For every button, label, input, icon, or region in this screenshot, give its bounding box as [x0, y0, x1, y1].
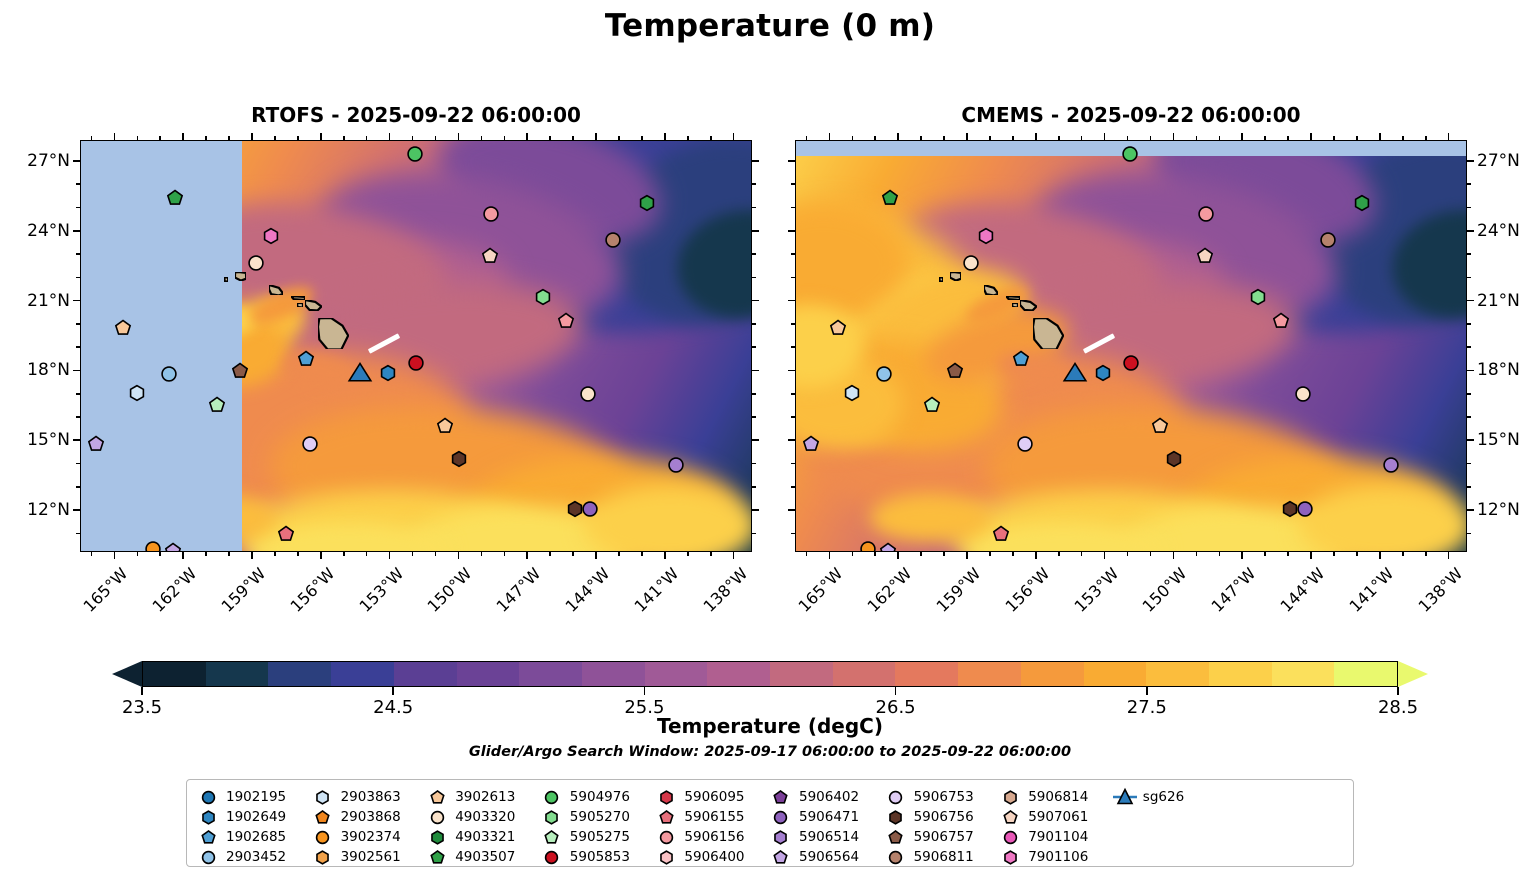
- float-marker[interactable]: [558, 313, 575, 330]
- y-tick: [73, 300, 80, 302]
- colorbar-band: [1146, 662, 1209, 686]
- y-tick: [788, 439, 795, 441]
- colorbar-band: [331, 662, 394, 686]
- x-tick: [1104, 552, 1106, 559]
- float-marker[interactable]: [298, 351, 315, 368]
- colorbar-tick: [1397, 687, 1399, 695]
- legend-item[interactable]: 7901104: [999, 827, 1114, 847]
- colorbar-band: [707, 662, 770, 686]
- y-tick-minor-right: [752, 346, 756, 348]
- legend-item[interactable]: 1902685: [197, 827, 312, 847]
- x-tick-minor-top: [366, 136, 368, 140]
- legend-item[interactable]: 1902649: [197, 807, 312, 827]
- colorbar-under-arrow: [112, 661, 142, 687]
- y-tick-right: [1467, 300, 1474, 302]
- x-tick-minor: [1196, 552, 1198, 556]
- x-tick-minor-top: [205, 136, 207, 140]
- colorbar-bands: [142, 661, 1398, 687]
- colorbar-title: Temperature (degC): [0, 714, 1540, 738]
- x-tick-minor: [618, 552, 620, 556]
- x-tick-minor: [572, 552, 574, 556]
- legend-marker-icon: [999, 810, 1021, 825]
- x-tick-minor: [91, 552, 93, 556]
- float-marker[interactable]: [1064, 364, 1087, 387]
- x-tick-minor: [1425, 552, 1427, 556]
- x-tick-minor-top: [641, 136, 643, 140]
- x-tick-minor-top: [228, 136, 230, 140]
- legend-marker-icon: [426, 830, 448, 845]
- legend-item[interactable]: 5906471: [770, 807, 885, 827]
- x-tick-minor: [920, 552, 922, 556]
- legend-marker-icon: [655, 850, 677, 865]
- colorbar-tick: [895, 687, 897, 695]
- colorbar-band: [143, 662, 206, 686]
- legend-item[interactable]: 5906811: [885, 847, 1000, 867]
- legend-item[interactable]: 5905275: [541, 827, 656, 847]
- x-tick-minor: [710, 552, 712, 556]
- float-marker[interactable]: [876, 366, 893, 383]
- x-tick-minor: [435, 552, 437, 556]
- legend-item-label: sg626: [1143, 789, 1184, 805]
- colorbar-band: [1209, 662, 1272, 686]
- legend-item[interactable]: 5906095: [655, 787, 770, 807]
- x-tick-minor-top: [412, 136, 414, 140]
- legend-item[interactable]: 7901106: [999, 847, 1114, 867]
- x-tick-minor: [366, 552, 368, 556]
- search-window-caption: Glider/Argo Search Window: 2025-09-17 06…: [0, 744, 1540, 760]
- y-tick-minor: [791, 486, 795, 488]
- y-tick-minor: [76, 323, 80, 325]
- legend-item-label: 4903321: [455, 829, 515, 845]
- x-tick-top: [1379, 133, 1381, 140]
- x-tick: [1241, 552, 1243, 559]
- x-tick: [966, 552, 968, 559]
- x-tick-minor: [943, 552, 945, 556]
- legend-item[interactable]: 5906400: [655, 847, 770, 867]
- legend-marker-icon: [885, 830, 907, 845]
- legend-item-label: 5906156: [684, 829, 744, 845]
- x-tick-minor-top: [274, 136, 276, 140]
- legend-item[interactable]: 5906757: [885, 827, 1000, 847]
- float-markers-cmems: [796, 141, 1466, 551]
- float-marker[interactable]: [129, 385, 146, 402]
- legend-item-label: 5905270: [570, 809, 630, 825]
- legend-item[interactable]: 5906156: [655, 827, 770, 847]
- float-marker[interactable]: [407, 146, 424, 163]
- float-marker[interactable]: [451, 451, 468, 468]
- legend-item-label: 2903452: [226, 849, 286, 865]
- x-tick-minor-top: [1012, 136, 1014, 140]
- y-tick-minor: [76, 253, 80, 255]
- x-tick-top: [389, 133, 391, 140]
- float-marker[interactable]: [145, 541, 162, 553]
- legend-item-label: 5906514: [799, 829, 859, 845]
- float-marker[interactable]: [882, 190, 899, 207]
- x-tick-top: [1173, 133, 1175, 140]
- y-tick: [788, 370, 795, 372]
- y-tick: [788, 300, 795, 302]
- float-marker[interactable]: [582, 501, 599, 518]
- legend-marker-icon: [197, 830, 219, 845]
- legend-item[interactable]: 5906756: [885, 807, 1000, 827]
- legend-marker-icon: [655, 810, 677, 825]
- x-tick: [1310, 552, 1312, 559]
- legend-item[interactable]: 4903321: [426, 827, 541, 847]
- legend-marker-icon: [770, 850, 792, 865]
- float-markers-rtofs: [81, 141, 751, 551]
- float-marker[interactable]: [380, 365, 397, 382]
- legend-item[interactable]: 3902613: [426, 787, 541, 807]
- legend-item-label: 1902195: [226, 789, 286, 805]
- colorbar[interactable]: 23.524.525.526.527.528.5: [112, 661, 1428, 687]
- x-tick: [458, 552, 460, 559]
- x-tick-top: [1448, 133, 1450, 140]
- y-tick: [788, 230, 795, 232]
- legend-item[interactable]: 5904976: [541, 787, 656, 807]
- float-marker[interactable]: [1250, 289, 1267, 306]
- x-tick: [251, 552, 253, 559]
- x-tick-minor-top: [1058, 136, 1060, 140]
- float-marker[interactable]: [278, 526, 295, 543]
- legend-item-label: 1902649: [226, 809, 286, 825]
- colorbar-band: [833, 662, 896, 686]
- y-tick-minor-right: [1467, 346, 1471, 348]
- x-tick-minor: [205, 552, 207, 556]
- legend-marker-icon: [426, 790, 448, 805]
- legend-item-label: 4903320: [455, 809, 515, 825]
- legend-item-label: 1902685: [226, 829, 286, 845]
- legend-item[interactable]: 4903507: [426, 847, 541, 867]
- panel-title-rtofs: RTOFS - 2025-09-22 06:00:00: [80, 103, 752, 127]
- y-tick-minor-right: [1467, 486, 1471, 488]
- y-tick-minor-right: [752, 416, 756, 418]
- legend-item[interactable]: 5907061: [999, 807, 1114, 827]
- x-tick: [897, 552, 899, 559]
- legend-item[interactable]: 5905853: [541, 847, 656, 867]
- panel-title-cmems: CMEMS - 2025-09-22 06:00:00: [795, 103, 1467, 127]
- float-marker[interactable]: [88, 436, 105, 453]
- y-tick-label-right: 15°N: [1477, 430, 1540, 450]
- float-marker[interactable]: [844, 385, 861, 402]
- x-tick-minor: [1150, 552, 1152, 556]
- float-marker[interactable]: [924, 397, 941, 414]
- float-marker[interactable]: [1166, 451, 1183, 468]
- float-marker[interactable]: [1122, 146, 1139, 163]
- x-tick-top: [733, 133, 735, 140]
- legend-item-label: 5906471: [799, 809, 859, 825]
- x-tick-top: [897, 133, 899, 140]
- float-marker[interactable]: [1297, 501, 1314, 518]
- legend-item[interactable]: 5906514: [770, 827, 885, 847]
- y-tick-minor: [76, 393, 80, 395]
- legend-marker-icon: [197, 810, 219, 825]
- float-marker[interactable]: [1095, 365, 1112, 382]
- float-marker[interactable]: [483, 206, 500, 223]
- legend-item[interactable]: sg626: [1114, 787, 1229, 807]
- float-marker[interactable]: [978, 228, 995, 245]
- x-tick: [829, 552, 831, 559]
- y-tick-right: [1467, 230, 1474, 232]
- legend-item-label: 5904976: [570, 789, 630, 805]
- y-tick-minor: [791, 277, 795, 279]
- x-tick-minor-top: [137, 136, 139, 140]
- float-marker[interactable]: [482, 248, 499, 265]
- legend-item-label: 5906811: [914, 849, 974, 865]
- float-marker[interactable]: [580, 386, 597, 403]
- float-marker[interactable]: [1383, 457, 1400, 474]
- legend-marker-icon: [541, 830, 563, 845]
- x-tick-minor-top: [343, 136, 345, 140]
- y-tick-minor-right: [752, 207, 756, 209]
- x-tick-minor-top: [1219, 136, 1221, 140]
- y-tick: [788, 160, 795, 162]
- y-tick: [73, 509, 80, 511]
- float-marker[interactable]: [668, 457, 685, 474]
- x-tick-minor-top: [1127, 136, 1129, 140]
- x-tick-minor: [852, 552, 854, 556]
- y-tick-minor-right: [1467, 416, 1471, 418]
- y-tick-minor-right: [1467, 463, 1471, 465]
- legend-marker-icon: [312, 830, 334, 845]
- x-tick-minor-top: [874, 136, 876, 140]
- legend-marker-icon: [426, 810, 448, 825]
- float-marker[interactable]: [1354, 195, 1371, 212]
- y-tick-right: [752, 509, 759, 511]
- x-tick-minor: [806, 552, 808, 556]
- x-tick-top: [182, 133, 184, 140]
- legend-marker-icon: [541, 850, 563, 865]
- float-marker[interactable]: [161, 366, 178, 383]
- x-tick-top: [320, 133, 322, 140]
- colorbar-tick: [644, 687, 646, 695]
- float-marker[interactable]: [1273, 313, 1290, 330]
- y-tick: [788, 509, 795, 511]
- y-tick-minor: [791, 463, 795, 465]
- x-tick-minor-top: [687, 136, 689, 140]
- glider-track: [368, 333, 400, 353]
- colorbar-band: [1084, 662, 1147, 686]
- x-tick-minor: [274, 552, 276, 556]
- legend-item-label: 2903863: [341, 789, 401, 805]
- colorbar-band: [457, 662, 520, 686]
- x-tick-minor: [1402, 552, 1404, 556]
- legend-marker-icon: [312, 790, 334, 805]
- float-marker[interactable]: [1152, 418, 1169, 435]
- y-tick-minor: [791, 183, 795, 185]
- y-tick-label-right: 27°N: [1477, 151, 1540, 171]
- legend-marker-icon: [885, 790, 907, 805]
- colorbar-band: [394, 662, 457, 686]
- legend-marker-icon: [541, 790, 563, 805]
- y-tick-minor: [791, 533, 795, 535]
- x-tick-minor-top: [504, 136, 506, 140]
- legend-item-label: 5906756: [914, 809, 974, 825]
- x-tick-minor-top: [572, 136, 574, 140]
- x-tick: [1173, 552, 1175, 559]
- x-tick-minor: [989, 552, 991, 556]
- colorbar-band: [582, 662, 645, 686]
- legend-marker-icon: [885, 850, 907, 865]
- x-tick-minor: [874, 552, 876, 556]
- legend-item-label: 5906402: [799, 789, 859, 805]
- legend-item-label: 5906400: [684, 849, 744, 865]
- legend-item[interactable]: 3902561: [312, 847, 427, 867]
- legend-item-label: 5906155: [684, 809, 744, 825]
- y-tick-minor-right: [752, 323, 756, 325]
- y-tick-label-right: 24°N: [1477, 221, 1540, 241]
- float-marker[interactable]: [880, 543, 897, 553]
- x-tick-minor-top: [920, 136, 922, 140]
- y-tick-minor: [791, 253, 795, 255]
- colorbar-tick: [392, 687, 394, 695]
- x-tick-top: [1241, 133, 1243, 140]
- float-marker[interactable]: [947, 363, 964, 380]
- y-tick-right: [1467, 509, 1474, 511]
- float-marker[interactable]: [860, 541, 877, 553]
- legend-item[interactable]: 2903863: [312, 787, 427, 807]
- y-tick-right: [752, 439, 759, 441]
- colorbar-band: [645, 662, 708, 686]
- y-tick-right: [752, 300, 759, 302]
- y-tick: [73, 439, 80, 441]
- legend-item-label: 3902613: [455, 789, 515, 805]
- legend-item-label: 5906814: [1028, 789, 1088, 805]
- legend-item-label: 5906753: [914, 789, 974, 805]
- x-tick-minor-top: [1150, 136, 1152, 140]
- legend-item[interactable]: 5906814: [999, 787, 1114, 807]
- y-tick-label-right: 21°N: [1477, 291, 1540, 311]
- float-marker[interactable]: [1320, 232, 1337, 249]
- legend-marker-icon: [655, 790, 677, 805]
- legend[interactable]: 1902195 1902649 1902685: [186, 779, 1354, 867]
- x-tick-minor-top: [852, 136, 854, 140]
- legend-item[interactable]: 5906564: [770, 847, 885, 867]
- x-tick-minor-top: [1402, 136, 1404, 140]
- x-tick-top: [829, 133, 831, 140]
- y-tick-minor-right: [752, 393, 756, 395]
- legend-item[interactable]: 5906402: [770, 787, 885, 807]
- y-tick-minor-right: [752, 533, 756, 535]
- float-marker[interactable]: [993, 526, 1010, 543]
- float-marker[interactable]: [437, 418, 454, 435]
- legend-item-label: 5907061: [1028, 809, 1088, 825]
- x-tick-minor: [1012, 552, 1014, 556]
- colorbar-band: [958, 662, 1021, 686]
- colorbar-band: [770, 662, 833, 686]
- float-marker[interactable]: [408, 355, 425, 372]
- x-tick-top: [1104, 133, 1106, 140]
- x-tick: [114, 552, 116, 559]
- y-tick-label: 27°N: [0, 151, 70, 171]
- y-tick-minor-right: [752, 183, 756, 185]
- legend-marker-icon: [770, 810, 792, 825]
- x-tick-minor-top: [1356, 136, 1358, 140]
- float-marker[interactable]: [1123, 355, 1140, 372]
- float-marker[interactable]: [1198, 206, 1215, 223]
- float-marker[interactable]: [165, 543, 182, 553]
- float-marker[interactable]: [248, 255, 265, 272]
- float-marker[interactable]: [263, 228, 280, 245]
- float-marker[interactable]: [302, 436, 319, 453]
- colorbar-over-arrow: [1398, 661, 1428, 687]
- legend-item-label: 7901106: [1028, 849, 1088, 865]
- float-marker[interactable]: [1017, 436, 1034, 453]
- legend-marker-icon: [197, 790, 219, 805]
- y-tick-label: 18°N: [0, 360, 70, 380]
- legend-item[interactable]: 5905270: [541, 807, 656, 827]
- y-tick-minor: [76, 346, 80, 348]
- y-tick-minor-right: [1467, 277, 1471, 279]
- float-marker[interactable]: [1295, 386, 1312, 403]
- y-tick-label-right: 18°N: [1477, 360, 1540, 380]
- x-tick-minor-top: [989, 136, 991, 140]
- legend-item[interactable]: 4903320: [426, 807, 541, 827]
- legend-item-label: 2903868: [341, 809, 401, 825]
- y-tick-right: [1467, 439, 1474, 441]
- y-tick-label: 12°N: [0, 500, 70, 520]
- float-marker[interactable]: [605, 232, 622, 249]
- float-marker[interactable]: [963, 255, 980, 272]
- x-tick-minor: [481, 552, 483, 556]
- legend-item[interactable]: 2903452: [197, 847, 312, 867]
- float-marker[interactable]: [1197, 248, 1214, 265]
- map-panel-cmems[interactable]: [795, 140, 1467, 552]
- y-tick-minor-right: [1467, 207, 1471, 209]
- legend-marker-icon: [312, 810, 334, 825]
- x-tick-minor: [1356, 552, 1358, 556]
- float-marker[interactable]: [639, 195, 656, 212]
- legend-item-label: 5906564: [799, 849, 859, 865]
- y-tick-minor: [791, 346, 795, 348]
- x-tick: [664, 552, 666, 559]
- legend-item[interactable]: 3902374: [312, 827, 427, 847]
- x-tick-minor-top: [481, 136, 483, 140]
- y-tick-minor-right: [1467, 183, 1471, 185]
- y-tick-minor: [76, 183, 80, 185]
- legend-item[interactable]: 5906155: [655, 807, 770, 827]
- float-marker[interactable]: [803, 436, 820, 453]
- x-tick-minor: [641, 552, 643, 556]
- map-panel-rtofs[interactable]: [80, 140, 752, 552]
- float-marker[interactable]: [115, 320, 132, 337]
- legend-marker-icon: [885, 810, 907, 825]
- float-marker[interactable]: [349, 364, 372, 387]
- x-tick-minor-top: [435, 136, 437, 140]
- float-marker[interactable]: [830, 320, 847, 337]
- figure-canvas: Temperature (0 m) RTOFS - 2025-09-22 06:…: [0, 0, 1540, 889]
- x-tick-minor: [228, 552, 230, 556]
- x-tick-top: [664, 133, 666, 140]
- x-tick-minor: [1264, 552, 1266, 556]
- legend-item[interactable]: 2903868: [312, 807, 427, 827]
- x-tick-top: [966, 133, 968, 140]
- float-marker[interactable]: [209, 397, 226, 414]
- float-marker[interactable]: [232, 363, 249, 380]
- x-tick: [182, 552, 184, 559]
- float-marker[interactable]: [535, 289, 552, 306]
- legend-item[interactable]: 5906753: [885, 787, 1000, 807]
- x-tick-minor-top: [1333, 136, 1335, 140]
- legend-item-label: 3902561: [341, 849, 401, 865]
- y-tick-right: [752, 230, 759, 232]
- float-marker[interactable]: [167, 190, 184, 207]
- y-tick-minor: [76, 277, 80, 279]
- y-tick-minor: [791, 207, 795, 209]
- legend-item-label: 5906757: [914, 829, 974, 845]
- legend-item[interactable]: 1902195: [197, 787, 312, 807]
- glider-track: [1083, 333, 1115, 353]
- float-marker[interactable]: [1013, 351, 1030, 368]
